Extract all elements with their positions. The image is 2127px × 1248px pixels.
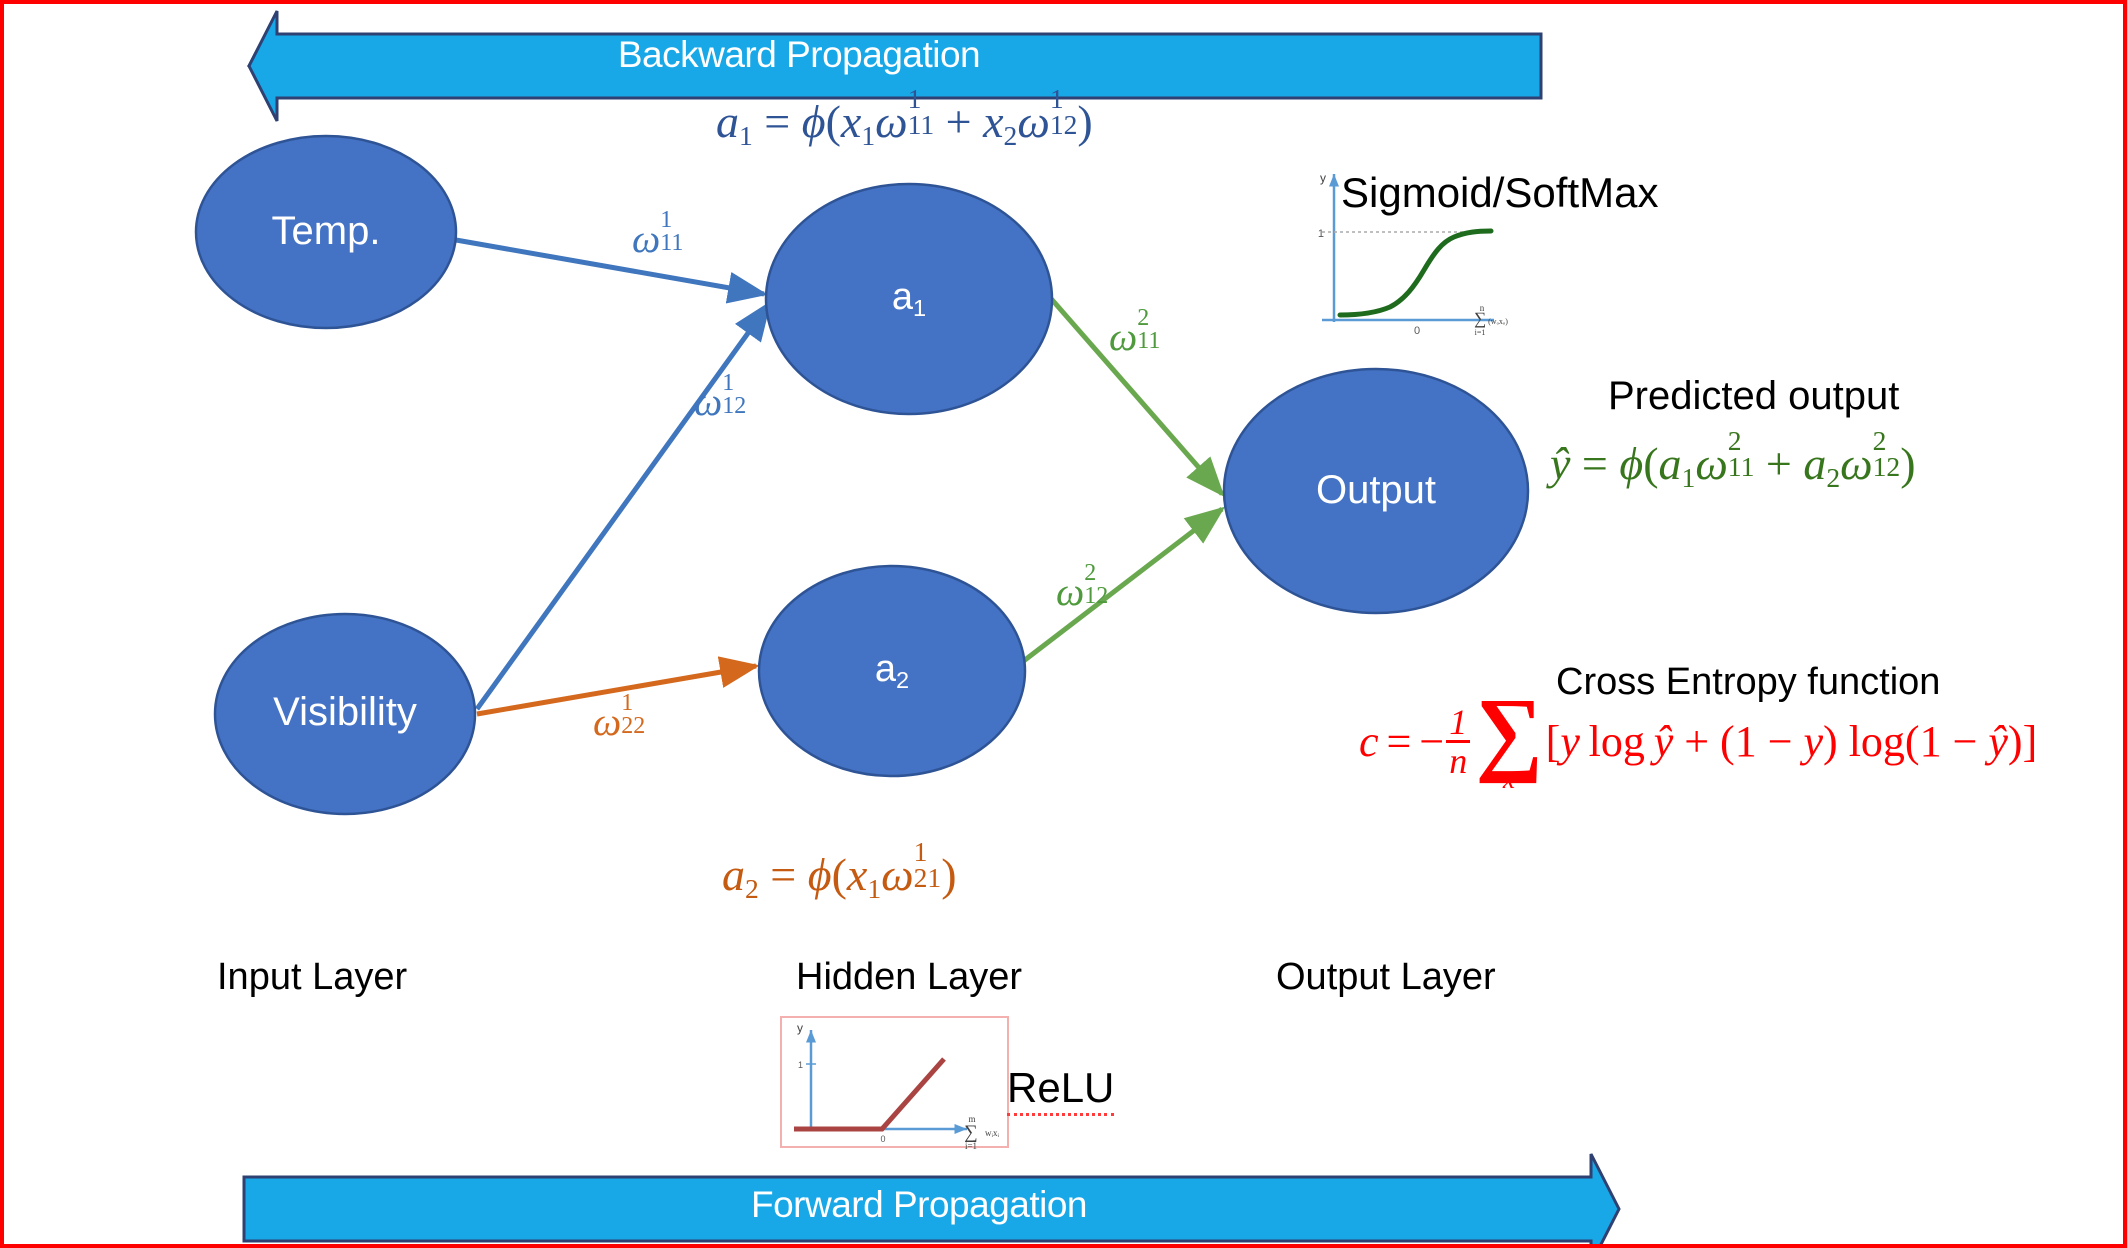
relu-caption: ReLU [1007, 1064, 1114, 1112]
hidden-layer-label: Hidden Layer [796, 956, 1022, 999]
weight-label-w2-11: ω211 [1109, 307, 1160, 357]
svg-text:(wₒxₒ): (wₒxₒ) [1488, 317, 1508, 326]
weight-w2-12-sub: 12 [1084, 585, 1108, 608]
node-output[interactable] [1224, 369, 1528, 613]
svg-text:wᵢxᵢ: wᵢxᵢ [985, 1128, 999, 1138]
ce-sigma-index: x [1503, 768, 1515, 790]
node-a2[interactable] [759, 566, 1025, 776]
weight-w2-11-base: ω [1109, 314, 1137, 359]
ce-summation: ∑ x [1475, 694, 1542, 790]
diagram-canvas: 1 y 0 n ∑ (wₒxₒ) i=1 1 y 0 [0, 0, 2127, 1248]
equation-a1: a1 = ϕ(x1ω111 + x2ω112) [716, 86, 1093, 150]
svg-text:1: 1 [798, 1060, 803, 1070]
relu-caption-text: ReLU [1007, 1064, 1114, 1116]
svg-text:i=1: i=1 [1475, 328, 1486, 337]
equation-yhat: ŷ = ϕ(a1ω211 + a2ω212) [1550, 428, 1916, 492]
ce-numerator: 1 [1446, 704, 1470, 741]
svg-text:y: y [1320, 171, 1326, 185]
weight-w1-22-sup: 1 [621, 692, 645, 715]
ce-sigma-symbol: ∑ [1475, 694, 1542, 772]
weight-w1-12-sub: 12 [722, 395, 746, 418]
ce-lead: c [1359, 720, 1379, 764]
weight-w1-22-sub: 22 [621, 715, 645, 738]
node-temp[interactable] [196, 136, 456, 328]
weight-w2-11-sub: 11 [1137, 330, 1160, 353]
ce-bracket-close: ] [2023, 720, 2038, 764]
weight-label-w2-12: ω212 [1056, 562, 1108, 612]
edge-visibility-to-a1 [477, 304, 769, 709]
backward-propagation-label: Backward Propagation [4, 34, 1594, 76]
edge-a2-to-output [1004, 509, 1222, 676]
svg-text:0: 0 [1414, 325, 1420, 337]
ce-equals: = [1387, 720, 1412, 764]
weight-label-w1-22: ω122 [593, 692, 645, 742]
weight-w1-11-sup: 1 [660, 209, 683, 232]
ce-bracket-open: [ [1546, 720, 1561, 764]
svg-text:∑: ∑ [1474, 309, 1486, 328]
sigmoid-softmax-caption: Sigmoid/SoftMax [1341, 169, 1658, 217]
weight-w1-12-base: ω [694, 379, 722, 424]
ce-minus: − [1419, 720, 1444, 764]
edge-temp-to-a1 [456, 240, 764, 294]
svg-text:y: y [797, 1021, 803, 1035]
equation-cross-entropy: c = − 1 n ∑ x [ y log ŷ + (1 − y) log(1 … [1359, 694, 2037, 790]
weight-w2-12-sup: 2 [1084, 562, 1108, 585]
weight-w2-11-sup: 2 [1137, 307, 1160, 330]
weight-w1-12-sup: 1 [722, 372, 746, 395]
node-a1[interactable] [766, 184, 1052, 414]
ce-fraction: 1 n [1446, 704, 1470, 781]
weight-w1-22-base: ω [593, 699, 621, 744]
output-layer-label: Output Layer [1276, 956, 1496, 999]
ce-body: y log ŷ + (1 − y) log(1 − ŷ) [1560, 720, 2022, 764]
weight-label-w1-12: ω112 [694, 372, 746, 422]
node-visibility[interactable] [215, 614, 475, 814]
input-layer-label: Input Layer [217, 956, 407, 999]
svg-text:0: 0 [880, 1134, 885, 1144]
svg-text:i=1: i=1 [965, 1141, 977, 1151]
weight-w1-11-base: ω [632, 216, 660, 261]
weight-label-w1-11: ω111 [632, 209, 683, 259]
weight-w2-12-base: ω [1056, 569, 1084, 614]
diagram-vector-layer: 1 y 0 n ∑ (wₒxₒ) i=1 1 y 0 [4, 4, 2127, 1248]
forward-propagation-label: Forward Propagation [244, 1184, 1594, 1226]
weight-w1-11-sub: 11 [660, 232, 683, 255]
relu-plot: 1 y 0 m ∑ wᵢxᵢ i=1 [781, 1017, 1008, 1151]
ce-denominator: n [1446, 740, 1470, 780]
svg-text:∑: ∑ [964, 1122, 978, 1143]
svg-text:1: 1 [1318, 228, 1324, 240]
equation-a2: a2 = ϕ(x1ω121) [722, 839, 957, 903]
predicted-output-caption: Predicted output [1608, 374, 1899, 419]
